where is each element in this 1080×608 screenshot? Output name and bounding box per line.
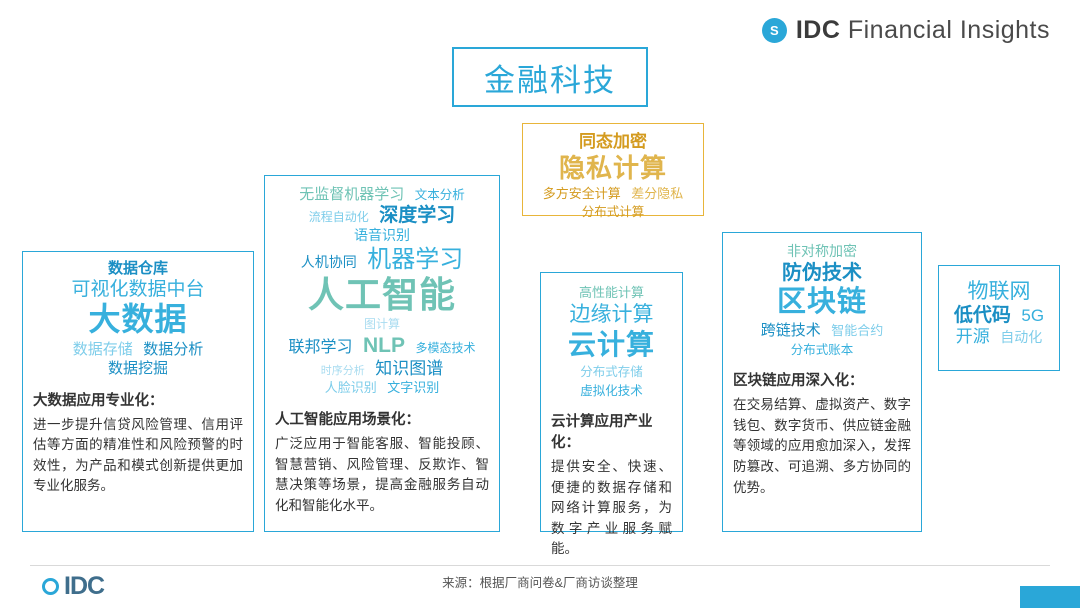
card-big-data: 数据仓库 可视化数据中台 大数据 数据存储 数据分析 数据挖掘 大数据应用专业化… (22, 251, 254, 532)
footer-divider (30, 565, 1050, 566)
word-ai-5: 人机协同 (301, 254, 357, 271)
word-cloud-iot: 物联网 低代码 5G 开源 自动化 (949, 280, 1049, 348)
word-ai-2: 流程自动化 (309, 210, 369, 224)
word-ai-10: NLP (363, 334, 405, 359)
word-big-data-4: 数据分析 (143, 341, 203, 359)
word-ai-3: 深度学习 (379, 205, 455, 227)
blockchain-body-title: 区块链应用深入化： (733, 369, 911, 390)
word-iot-2: 5G (1021, 306, 1044, 326)
brand-text: IDC Financial Insights (796, 16, 1050, 45)
word-cloud-3: 分布式存储 (580, 365, 643, 380)
page-title: 金融科技 (452, 47, 648, 107)
word-privacy-4: 分布式计算 (582, 205, 645, 220)
word-ai-1: 文本分析 (415, 188, 465, 203)
word-cloud-ai: 无监督机器学习 文本分析 流程自动化 深度学习 语音识别 人机协同 机器学习 人… (275, 186, 489, 398)
word-ai-14: 人脸识别 (325, 380, 377, 395)
idc-circle-icon: S (762, 18, 787, 43)
word-ai-9: 联邦学习 (289, 339, 353, 358)
brand-financial-insights: Financial Insights (848, 16, 1050, 44)
card-artificial-intelligence: 无监督机器学习 文本分析 流程自动化 深度学习 语音识别 人机协同 机器学习 人… (264, 175, 500, 532)
word-block-0: 非对称加密 (787, 243, 857, 260)
cloud-body-text: 提供安全、快速、便捷的数据存储和网络计算服务，为数字产业服务赋能。 (551, 457, 672, 560)
blockchain-body-text: 在交易结算、虚拟资产、数字钱包、数字货币、供应链金融等领域的应用愈加深入，发挥防… (733, 395, 911, 498)
ai-body-title: 人工智能应用场景化： (275, 408, 489, 429)
word-ai-8: 图计算 (364, 317, 400, 331)
idc-financial-insights-logo: S IDC Financial Insights (762, 16, 1050, 45)
word-iot-3: 开源 (956, 327, 990, 347)
word-block-1: 防伪技术 (782, 262, 862, 286)
word-ai-13: 知识图谱 (375, 359, 443, 379)
word-ai-0: 无监督机器学习 (299, 186, 404, 204)
ai-body-text: 广泛应用于智能客服、智能投顾、智慧营销、风险管理、反欺诈、智慧决策等场景，提高金… (275, 434, 489, 516)
card-privacy-computing: 同态加密 隐私计算 多方安全计算 差分隐私 分布式计算 (522, 123, 704, 216)
word-cloud-privacy: 同态加密 隐私计算 多方安全计算 差分隐私 分布式计算 (533, 132, 693, 222)
word-privacy-3: 差分隐私 (631, 186, 683, 201)
word-ai-15: 文字识别 (387, 380, 439, 395)
word-cloud-1: 边缘计算 (570, 303, 654, 328)
word-cloud-big-data: 数据仓库 可视化数据中台 大数据 数据存储 数据分析 数据挖掘 (33, 260, 243, 379)
card-cloud-computing: 高性能计算 边缘计算 云计算 分布式存储 虚拟化技术 云计算应用产业化： 提供安… (540, 272, 683, 532)
word-ai-7: 人工智能 (308, 274, 456, 316)
word-big-data-5: 数据挖掘 (108, 360, 168, 378)
word-iot-4: 自动化 (1000, 329, 1042, 346)
word-block-3: 跨链技术 (761, 322, 821, 340)
word-privacy-2: 多方安全计算 (543, 186, 621, 201)
word-cloud-cloud: 高性能计算 边缘计算 云计算 分布式存储 虚拟化技术 (551, 284, 672, 400)
word-privacy-1: 隐私计算 (559, 153, 667, 184)
word-privacy-0: 同态加密 (579, 132, 647, 152)
word-block-4: 智能合约 (831, 323, 883, 338)
word-block-2: 区块链 (777, 285, 867, 319)
big-data-body-text: 进一步提升信贷风险管理、信用评估等方面的精准性和风险预警的时效性，为产品和模式创… (33, 415, 243, 497)
cloud-body-title: 云计算应用产业化： (551, 410, 672, 452)
word-big-data-3: 数据存储 (73, 341, 133, 359)
card-blockchain: 非对称加密 防伪技术 区块链 跨链技术 智能合约 分布式账本 区块链应用深入化：… (722, 232, 922, 532)
word-ai-4: 语音识别 (354, 227, 410, 244)
word-cloud-4: 虚拟化技术 (580, 384, 643, 399)
word-ai-11: 多模态技术 (415, 341, 475, 355)
word-big-data-1: 可视化数据中台 (71, 279, 204, 301)
word-iot-1: 低代码 (954, 305, 1011, 327)
word-big-data-2: 大数据 (88, 301, 187, 339)
word-ai-12: 时序分析 (321, 365, 365, 378)
word-cloud-2: 云计算 (568, 328, 655, 361)
card-iot: 物联网 低代码 5G 开源 自动化 (938, 265, 1060, 371)
word-ai-6: 机器学习 (367, 246, 463, 274)
word-block-5: 分布式账本 (791, 343, 854, 358)
word-cloud-0: 高性能计算 (579, 285, 644, 300)
footer-accent-block (1020, 586, 1080, 608)
word-cloud-blockchain: 非对称加密 防伪技术 区块链 跨链技术 智能合约 分布式账本 (733, 243, 911, 359)
brand-idc: IDC (796, 16, 841, 44)
source-note: 来源：根据厂商问卷&厂商访谈整理 (0, 572, 1080, 591)
word-big-data-0: 数据仓库 (108, 260, 168, 278)
big-data-body-title: 大数据应用专业化： (33, 389, 243, 410)
word-iot-0: 物联网 (968, 280, 1031, 305)
